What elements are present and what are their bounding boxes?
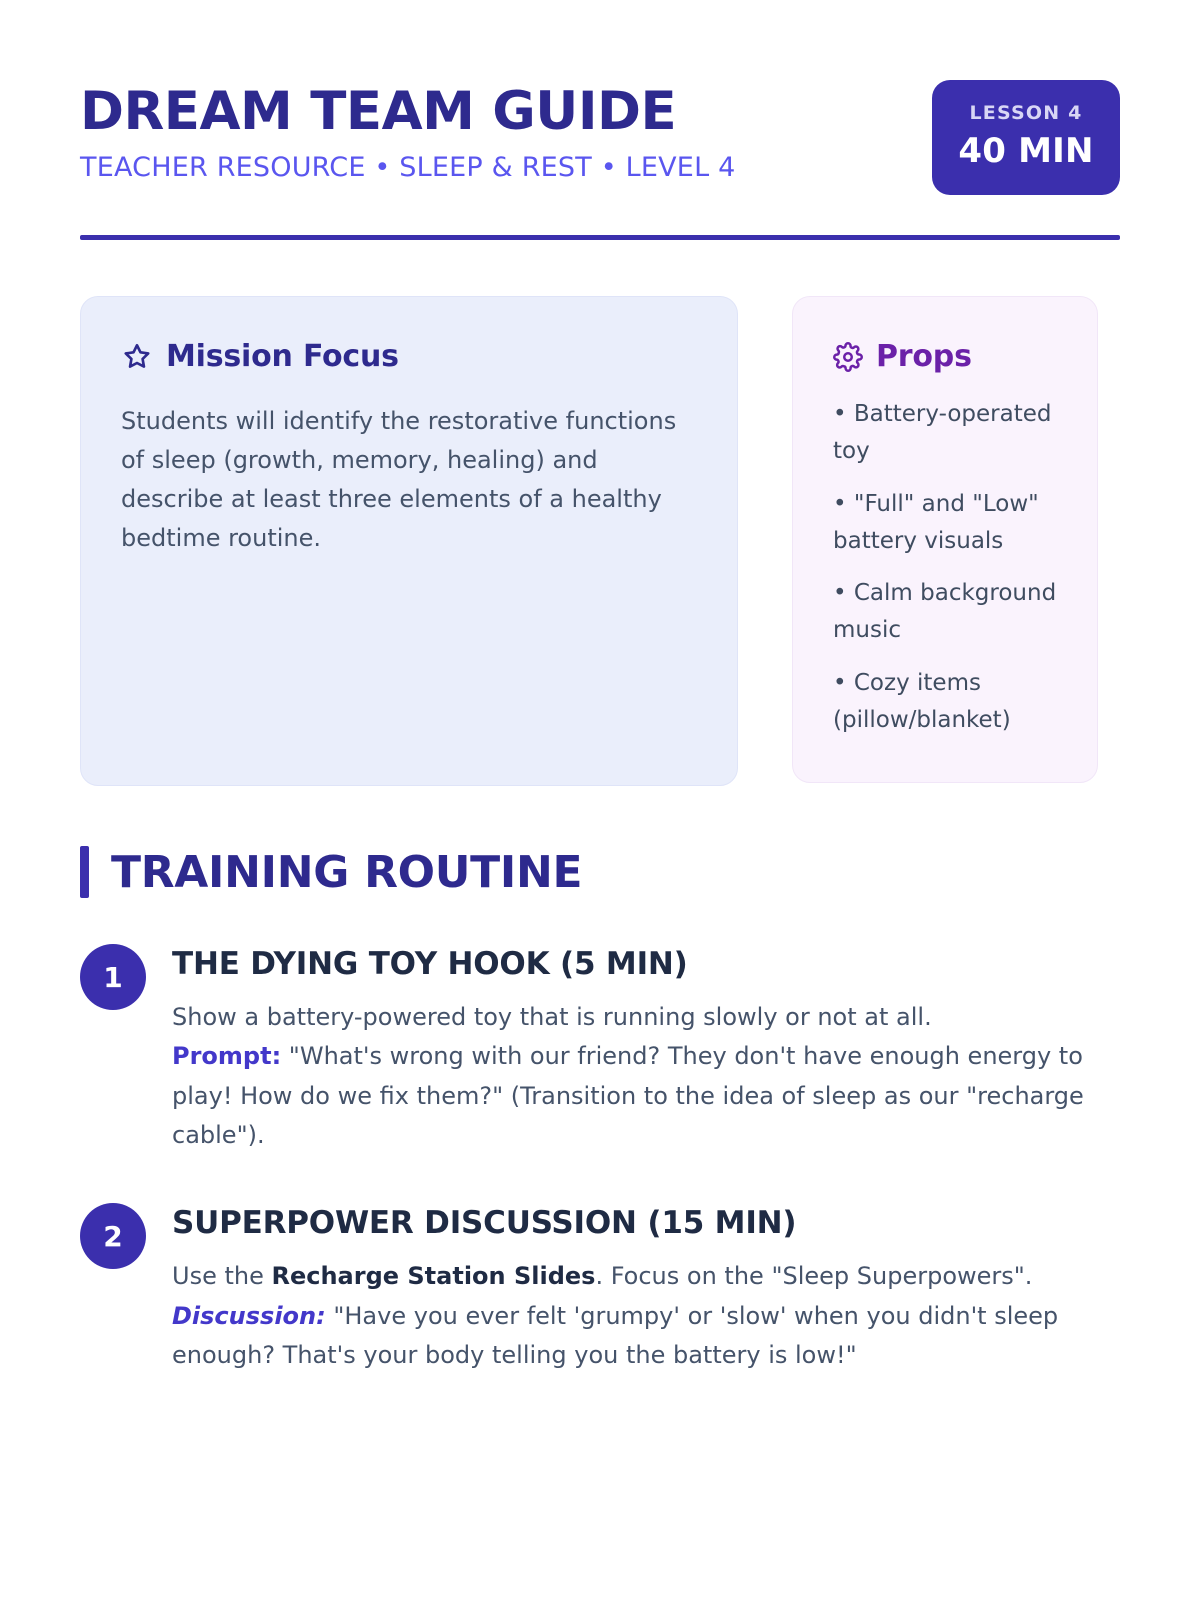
mission-focus-card: Mission Focus Students will identify the… <box>80 296 738 786</box>
step-title: THE DYING TOY HOOK (5 MIN) <box>172 946 1120 982</box>
list-item: • Calm background music <box>833 575 1057 650</box>
props-title-row: Props <box>833 339 1057 374</box>
header-divider <box>80 235 1120 240</box>
list-item: • Cozy items (pillow/blanket) <box>833 665 1057 740</box>
step-content: SUPERPOWER DISCUSSION (15 MIN) Use the R… <box>172 1201 1120 1375</box>
step-content: THE DYING TOY HOOK (5 MIN) Show a batter… <box>172 942 1120 1155</box>
training-routine-heading: TRAINING ROUTINE <box>80 846 1120 898</box>
lesson-duration-badge: LESSON 4 40 MIN <box>932 80 1120 195</box>
info-cards-row: Mission Focus Students will identify the… <box>80 296 1120 786</box>
page-subtitle: TEACHER RESOURCE • SLEEP & REST • LEVEL … <box>80 152 735 183</box>
section-title: TRAINING ROUTINE <box>111 847 582 898</box>
props-list: • Battery-operated toy • "Full" and "Low… <box>833 396 1057 739</box>
lesson-badge-duration: 40 MIN <box>958 131 1094 171</box>
list-item: • "Full" and "Low" battery visuals <box>833 486 1057 561</box>
mission-focus-title-row: Mission Focus <box>121 339 697 374</box>
lesson-guide-page: DREAM TEAM GUIDE TEACHER RESOURCE • SLEE… <box>0 0 1200 1600</box>
list-item: • Battery-operated toy <box>833 396 1057 471</box>
discussion-label: Discussion: <box>172 1302 326 1330</box>
step-body: Show a battery-powered toy that is runni… <box>172 998 1120 1155</box>
page-title: DREAM TEAM GUIDE <box>80 84 735 140</box>
mission-focus-body: Students will identify the restorative f… <box>121 402 697 558</box>
prompt-label: Prompt: <box>172 1042 281 1070</box>
props-heading: Props <box>876 339 972 374</box>
props-card: Props • Battery-operated toy • "Full" an… <box>792 296 1098 783</box>
step-body-line-1-pre: Use the <box>172 1262 271 1290</box>
step-body-line-1: Show a battery-powered toy that is runni… <box>172 1003 932 1031</box>
routine-step: 2 SUPERPOWER DISCUSSION (15 MIN) Use the… <box>80 1201 1120 1375</box>
step-title: SUPERPOWER DISCUSSION (15 MIN) <box>172 1205 1120 1241</box>
page-header: DREAM TEAM GUIDE TEACHER RESOURCE • SLEE… <box>80 72 1120 195</box>
step-body-line-2: "What's wrong with our friend? They don'… <box>172 1042 1084 1149</box>
step-number-badge: 2 <box>80 1203 146 1269</box>
section-accent-bar <box>80 846 89 898</box>
step-body: Use the Recharge Station Slides. Focus o… <box>172 1257 1120 1375</box>
recharge-station-slides-emphasis: Recharge Station Slides <box>271 1262 595 1290</box>
star-icon <box>121 341 153 373</box>
step-number-badge: 1 <box>80 944 146 1010</box>
lesson-badge-label: LESSON 4 <box>958 102 1094 124</box>
gear-icon <box>833 342 863 372</box>
routine-steps: 1 THE DYING TOY HOOK (5 MIN) Show a batt… <box>80 942 1120 1376</box>
mission-focus-heading: Mission Focus <box>166 339 399 374</box>
routine-step: 1 THE DYING TOY HOOK (5 MIN) Show a batt… <box>80 942 1120 1155</box>
header-titles: DREAM TEAM GUIDE TEACHER RESOURCE • SLEE… <box>80 72 735 183</box>
step-body-line-1-post: . Focus on the "Sleep Superpowers". <box>595 1262 1032 1290</box>
